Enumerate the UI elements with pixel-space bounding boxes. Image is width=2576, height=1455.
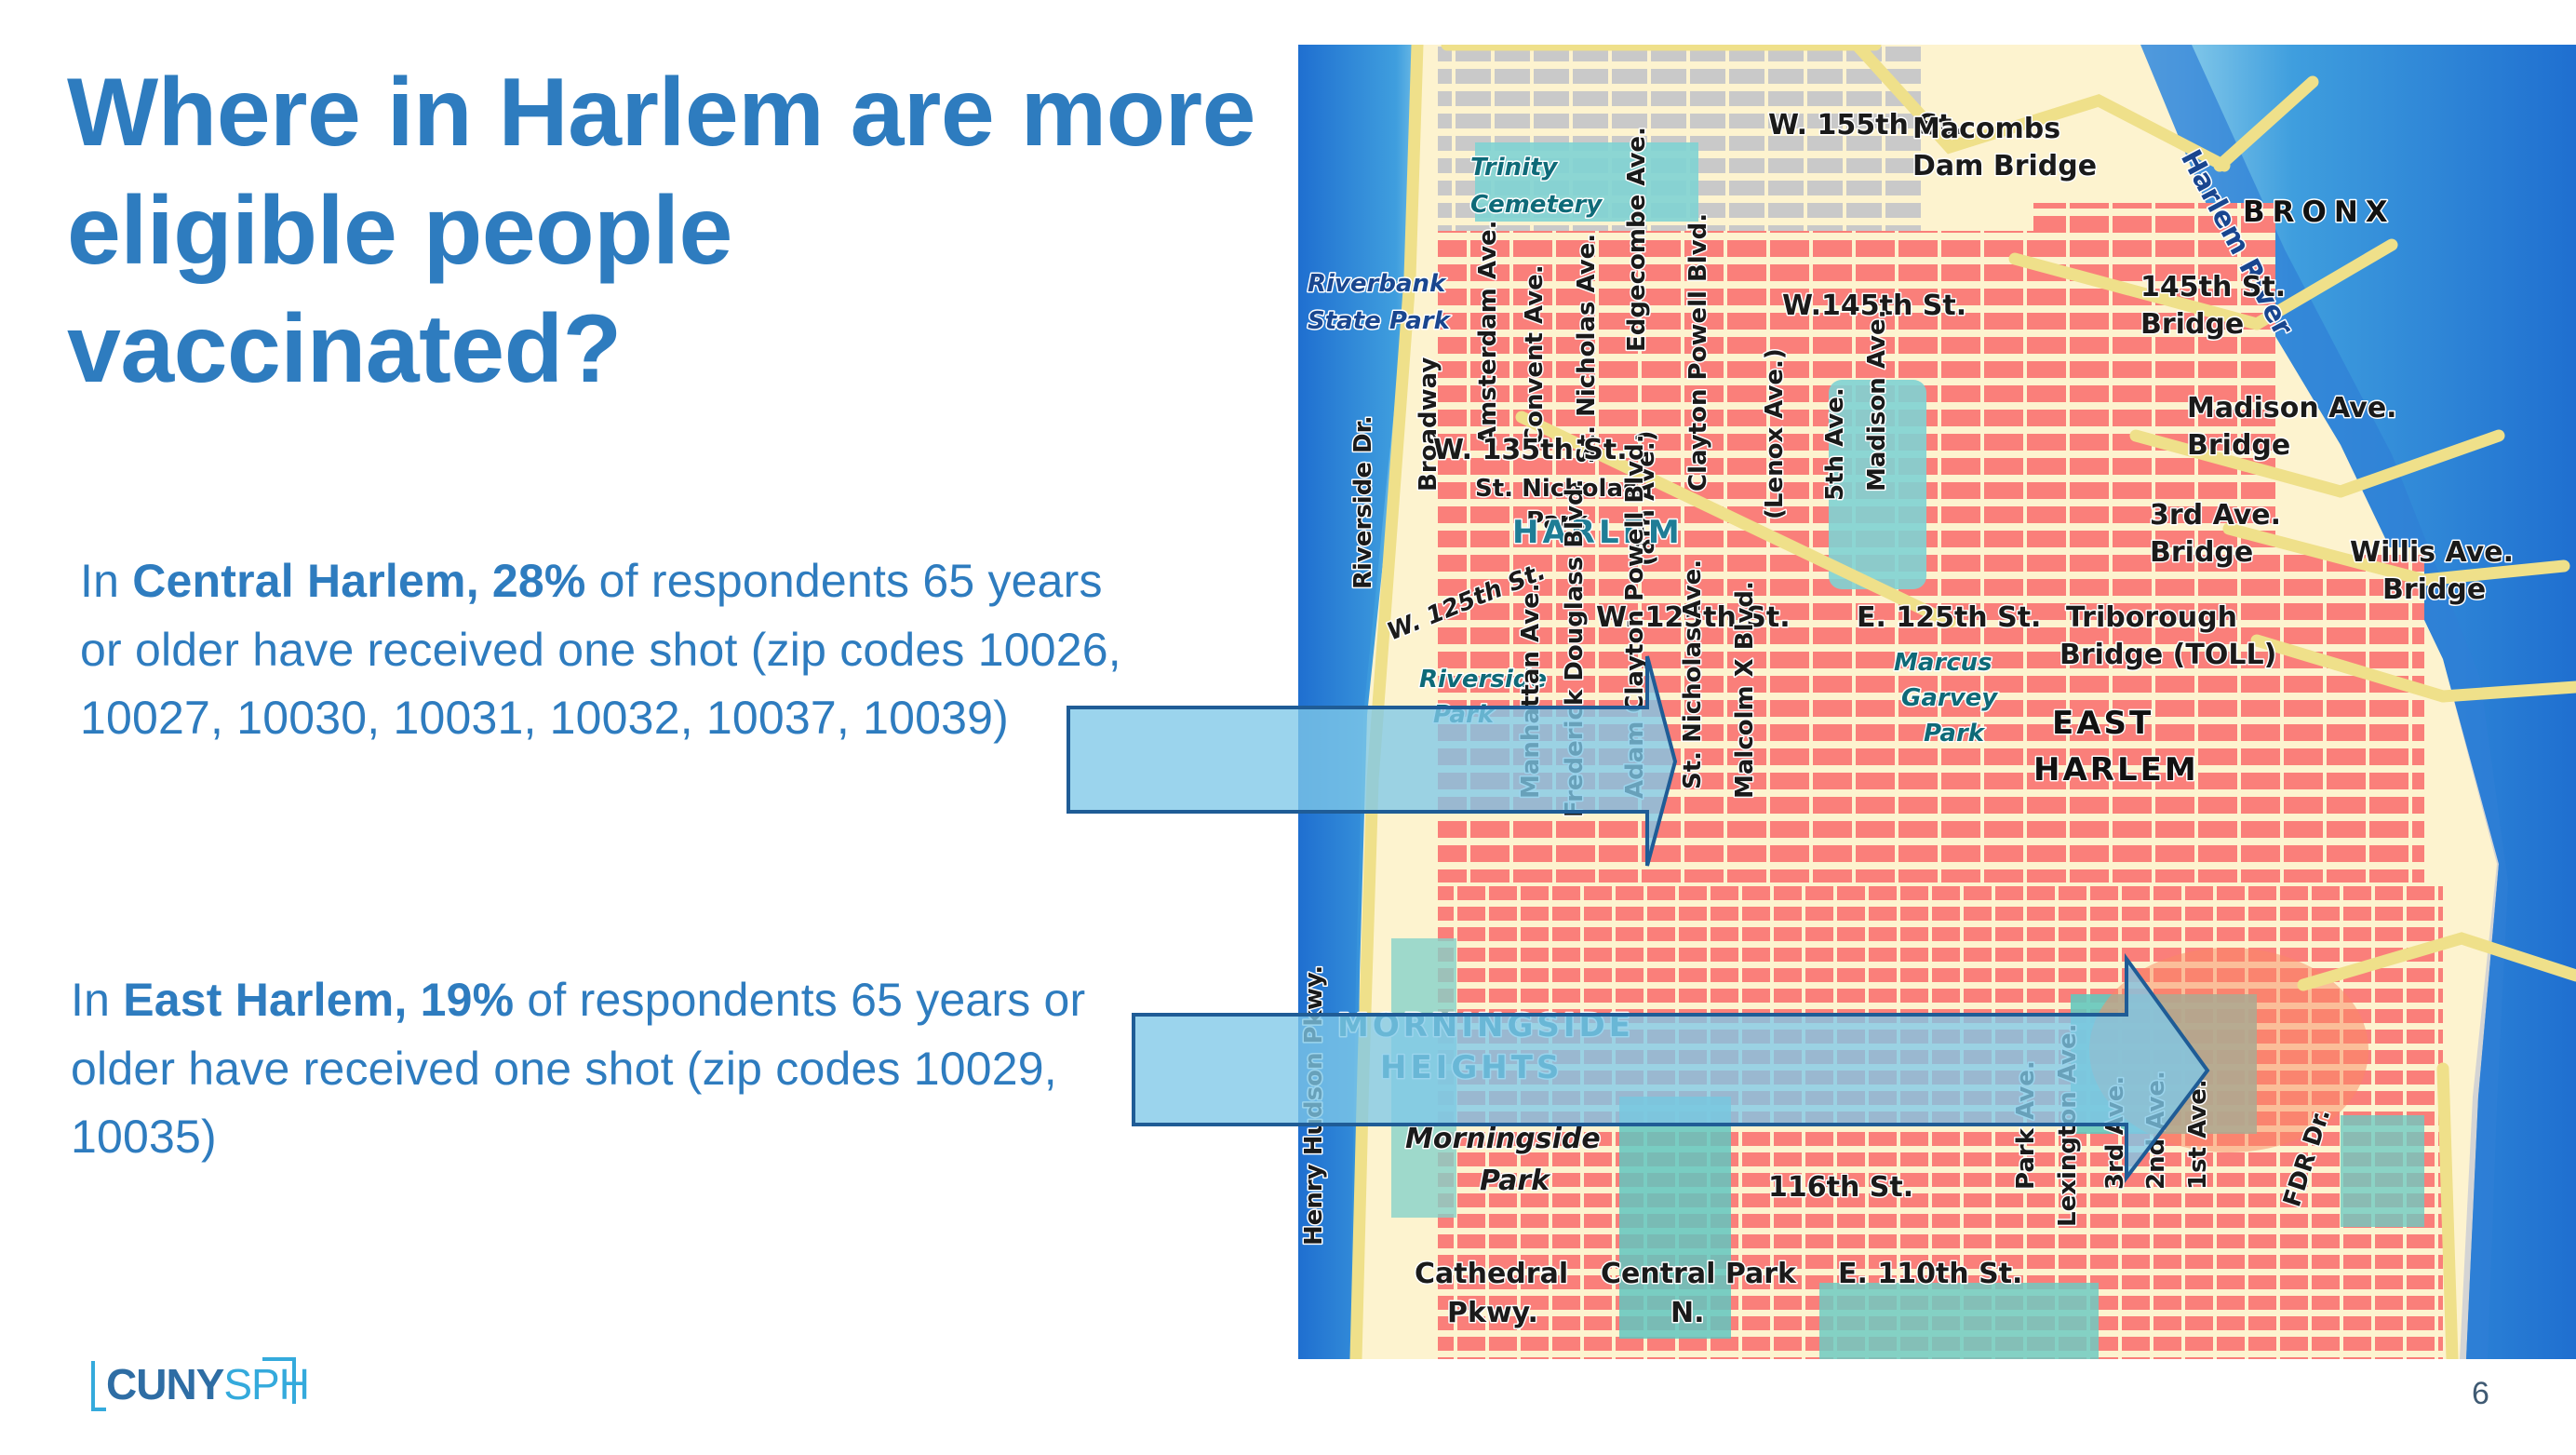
map-label-harlem: HARLEM [1512,514,1684,551]
cuny-sph-logo: CUNYSPH [91,1357,296,1415]
map-label-broadway: Broadway [1415,357,1442,492]
map-label-3rd-ave-bridge: 3rd Ave. [2150,499,2281,532]
map-label-madison-ave: Madison Ave. [1863,310,1891,492]
map-label-amsterdam-ave: Amsterdam Ave. [1474,220,1502,445]
map-label-cathedral-pkwy-2: Pkwy. [1447,1297,1538,1329]
para2-highlight: East Harlem, 19% [123,974,514,1026]
map-label-park-ave: Park Ave. [2012,1060,2040,1190]
map-label-clayton-powell-blvd: Clayton Powell Blvd. [1684,213,1712,492]
east-harlem-statement: In East Harlem, 19% of respondents 65 ye… [71,966,1094,1172]
map-label-riverbank-state-park: Riverbank [1308,270,1447,298]
logo-left-bracket [91,1361,106,1411]
map-label-willis-ave-bridge-2: Bridge [2382,573,2486,606]
map-label-willis-ave-bridge: Willis Ave. [2350,536,2514,569]
map-label-morningside-heights-2: HEIGHTS [1380,1049,1563,1086]
map-label-madison-ave-bridge: Madison Ave. [2187,392,2397,424]
map-label-convent-ave: Convent Ave. [1521,264,1549,445]
map-label-riverbank-state-park-2: State Park [1308,307,1452,335]
map-label-east-harlem: HARLEM [2033,751,2199,788]
map-label-riverside-park-2: Park [1433,701,1496,729]
central-harlem-statement: In Central Harlem, 28% of respondents 65… [80,547,1132,753]
map-label-malcolm-x-blvd: Malcolm X Blvd. [1731,581,1759,799]
map-label-east: EAST [2052,705,2153,742]
logo-sph-text: SPH [223,1360,309,1408]
map-label-manhattan-ave: Manhattan Ave. [1517,583,1545,799]
map-label-3rd-ave: 3rd Ave. [2101,1076,2129,1190]
map-label-triborough-bridge: Triborough [2066,601,2237,634]
map-label-adam-clayton-powell-blvd: Adam Clayton Powell Blvd. [1621,434,1649,799]
map-label-lexington-ave: Lexington Ave. [2054,1023,2082,1227]
map-label-trinity-cemetery: Trinity [1470,154,1558,182]
map-label-madison-ave-bridge-2: Bridge [2187,429,2290,462]
map-label-morningside-heights: MORNINGSIDE [1337,1007,1634,1044]
map-label-1st-ave: 1st Ave. [2184,1079,2212,1190]
map-label-3rd-ave-bridge-2: Bridge [2150,536,2253,569]
map-label-145th-st-bridge: 145th St. [2140,271,2286,303]
map-label-central-park-n-2: N. [1670,1297,1705,1329]
map-label-116th-st: 116th St. [1768,1171,1913,1204]
map-label-trinity-cemetery-2: Cemetery [1470,191,1603,219]
map-label-morningside-park: Morningside [1405,1123,1601,1155]
map-label-macombs-dam-bridge-2: Dam Bridge [1912,150,2097,182]
map-label-henry-hudson-pkwy: Henry Hudson Pkwy. [1300,965,1328,1246]
map-label-st-nicholas-park: St. Nicholas [1475,475,1637,503]
map-label-e-125th-st: E. 125th St. [1857,601,2041,634]
map-label-central-park-n: Central Park [1601,1258,1797,1290]
map-label-marcus-garvey-park-2: Garvey [1901,684,1998,712]
page-title: Where in Harlem are more eligible people… [67,54,1295,409]
map-label-riverside-dr: Riverside Dr. [1349,415,1377,589]
page-number: 6 [2472,1376,2489,1412]
map-label-lenox-ave: (Lenox Ave.) [1761,348,1789,519]
logo-wordmark: CUNYSPH [106,1361,309,1408]
map-label-bronx: BRONX [2243,195,2395,229]
para1-highlight: Central Harlem, 28% [132,555,585,607]
logo-cuny-text: CUNY [106,1360,223,1408]
slide-root: Where in Harlem are more eligible people… [0,0,2576,1455]
map-label-e-110th-st: E. 110th St. [1838,1258,2022,1290]
map-label-2nd-ave: 2nd Ave. [2142,1071,2170,1190]
harlem-street-map: Harlem River W. 155th St. Trinity Cemete… [1298,45,2576,1359]
map-label-5th-ave: 5th Ave. [1821,387,1849,501]
map-label-st-nicholas-ave: St. Nicholas Ave. [1573,234,1601,464]
para2-leadin: In [71,974,123,1026]
map-label-cathedral-pkwy: Cathedral [1415,1258,1568,1290]
map-label-marcus-garvey-park: Marcus [1894,649,1992,677]
map-label-st-nicholas-ave-lower: St. Nicholas Ave. [1679,559,1707,789]
map-label-triborough-bridge-2: Bridge (TOLL) [2059,639,2276,671]
map-label-frederick-douglass-blvd: Frederick Douglass Blvd. [1561,479,1589,817]
map-label-macombs-dam-bridge: Macombs [1912,113,2060,145]
map-label-145th-st-bridge-2: Bridge [2140,308,2244,341]
para1-leadin: In [80,555,132,607]
map-label-edgecombe-ave: Edgecombe Ave. [1623,127,1651,352]
map-label-marcus-garvey-park-3: Park [1924,720,1986,748]
map-label-morningside-park-2: Park [1480,1165,1551,1197]
map-label-w-135th-st: W. 135th St. [1433,434,1628,466]
